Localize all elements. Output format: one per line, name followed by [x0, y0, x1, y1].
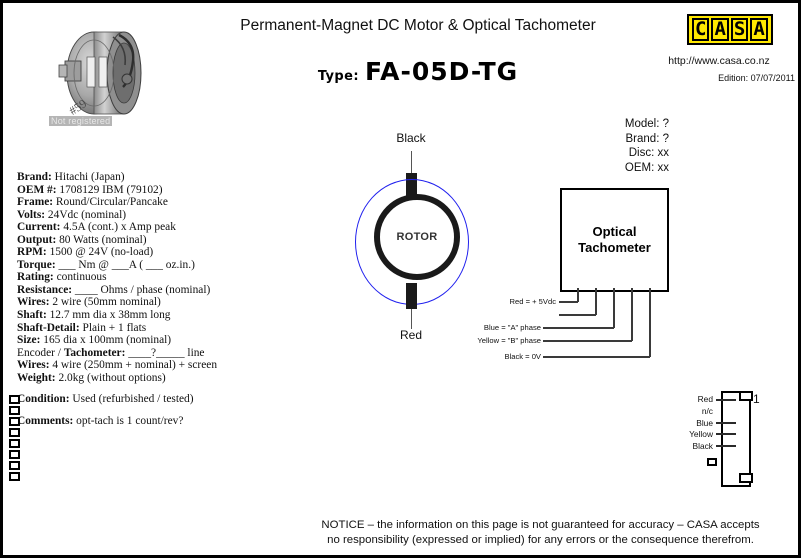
connector-label-nc: n/c: [667, 406, 713, 416]
connector-line-red: [716, 399, 736, 401]
tach-brand: Brand: ?: [559, 132, 669, 147]
spec-frame: Frame: Round/Circular/Pancake: [17, 196, 257, 209]
connector-pin1-number: 1: [753, 392, 760, 406]
spec-shaft-detail: Shaft-Detail: Plain + 1 flats: [17, 322, 257, 335]
type-label: Type:: [318, 69, 359, 84]
connector-pin-2: [9, 406, 20, 415]
spec-condition: Condition: Used (refurbished / tested): [17, 393, 257, 406]
wire-label-blue: Blue = "A" phase: [458, 323, 541, 332]
optical-tachometer-box: OpticalTachometer: [560, 188, 669, 292]
wire-drop-2: [595, 288, 597, 315]
wire-run-4: [543, 340, 632, 342]
spec-resistance: Resistance: ____ Ohms / phase (nominal): [17, 284, 257, 297]
casa-logo: C A S A: [687, 14, 773, 45]
spec-rating: Rating: continuous: [17, 271, 257, 284]
tach-disc: Disc: xx: [559, 146, 669, 161]
wire-drop-3: [613, 288, 615, 328]
edition-date: Edition: 07/07/2011: [643, 73, 795, 83]
connector-pin-7: [9, 461, 20, 470]
connector-line-yellow: [716, 433, 736, 435]
wire-label-yellow: Yellow = "B" phase: [458, 336, 541, 345]
rotor-bottom-terminal: [406, 283, 417, 309]
spec-size: Size: 165 dia x 100mm (nominal): [17, 334, 257, 347]
page-title: Permanent-Magnet DC Motor & Optical Tach…: [198, 17, 638, 35]
photo-watermark: Not registered: [49, 116, 112, 126]
rotor-center-label: ROTOR: [396, 231, 437, 243]
wire-label-black: Black = 0V: [458, 352, 541, 361]
wire-drop-5: [649, 288, 651, 357]
logo-letter-a1: A: [711, 18, 728, 41]
spec-wires-tach: Wires: 4 wire (250mm + nominal) + screen: [17, 359, 257, 372]
motor-photo: #59 Not registered: [47, 17, 161, 129]
notice-text: NOTICE – the information on this page is…: [288, 518, 793, 548]
spec-volts: Volts: 24Vdc (nominal): [17, 209, 257, 222]
tach-model: Model: ?: [559, 117, 669, 132]
connector-label-blue: Blue: [667, 418, 713, 428]
rotor-diagram: Black ROTOR Red: [336, 131, 486, 351]
specification-list: Brand: Hitachi (Japan) OEM #: 1708129 IB…: [17, 171, 257, 427]
connector-label-black: Black: [667, 441, 713, 451]
wire-run-5: [543, 356, 650, 358]
spec-output: Output: 80 Watts (nominal): [17, 234, 257, 247]
spec-encoder: Encoder / Tachometer: ____?_____ line: [17, 347, 257, 360]
connector-line-black: [716, 445, 736, 447]
type-row: Type:FA-05D-TG: [198, 57, 638, 86]
rotor-bottom-lead: [411, 309, 412, 329]
spec-wires-motor: Wires: 2 wire (50mm nominal): [17, 296, 257, 309]
spec-weight: Weight: 2.0kg (without options): [17, 372, 257, 385]
wire-drop-4: [631, 288, 633, 341]
wire-run-3: [543, 327, 614, 329]
spec-oem: OEM #: 1708129 IBM (79102): [17, 184, 257, 197]
wire-run-1: [559, 301, 578, 303]
connector-tab: [707, 458, 717, 466]
spec-current: Current: 4.5A (cont.) x Amp peak: [17, 221, 257, 234]
rotor-top-lead: [411, 151, 412, 173]
connector-pin-5: [9, 439, 20, 448]
datasheet-page: #59 Not registered Permanent-Magnet DC M…: [0, 0, 801, 558]
rotor-ring: ROTOR: [374, 194, 460, 280]
connector-label-red: Red: [667, 394, 713, 404]
connector-pin-6: [9, 450, 20, 459]
notice-line2: no responsibility (expressed or implied)…: [327, 534, 754, 546]
connector-label-yellow: Yellow: [667, 429, 713, 439]
connector-pin-8: [9, 472, 20, 481]
motor-photo-image: [47, 17, 161, 129]
spec-torque: Torque: ___ Nm @ ___A ( ___ oz.in.): [17, 259, 257, 272]
logo-letter-s: S: [731, 18, 748, 41]
connector-pin-4: [9, 428, 20, 437]
wire-label-red: Red = + 5Vdc: [473, 297, 556, 306]
tachometer-info: Model: ? Brand: ? Disc: xx OEM: xx: [559, 117, 669, 175]
spec-comments: Comments: opt-tach is 1 count/rev?: [17, 415, 257, 428]
connector-notch-top: [739, 391, 753, 401]
spec-brand: Brand: Hitachi (Japan): [17, 171, 257, 184]
wire-run-2: [559, 314, 596, 316]
rotor-top-label: Black: [336, 131, 486, 145]
logo-letter-c: C: [692, 18, 709, 41]
connector-pin-3: [9, 417, 20, 426]
notice-line1: NOTICE – the information on this page is…: [321, 519, 759, 531]
logo-letter-a2: A: [750, 18, 767, 41]
connector-pin-1: [9, 395, 20, 404]
connector-notch-bottom: [739, 473, 753, 483]
type-value: FA-05D-TG: [365, 57, 518, 86]
tach-oem: OEM: xx: [559, 161, 669, 176]
wire-drop-1: [577, 288, 579, 302]
spec-shaft: Shaft: 12.7 mm dia x 38mm long: [17, 309, 257, 322]
connector-line-blue: [716, 422, 736, 424]
tach-box-label: OpticalTachometer: [578, 224, 651, 256]
spec-rpm: RPM: 1500 @ 24V (no-load): [17, 246, 257, 259]
website-url[interactable]: http://www.casa.co.nz: [643, 55, 795, 67]
